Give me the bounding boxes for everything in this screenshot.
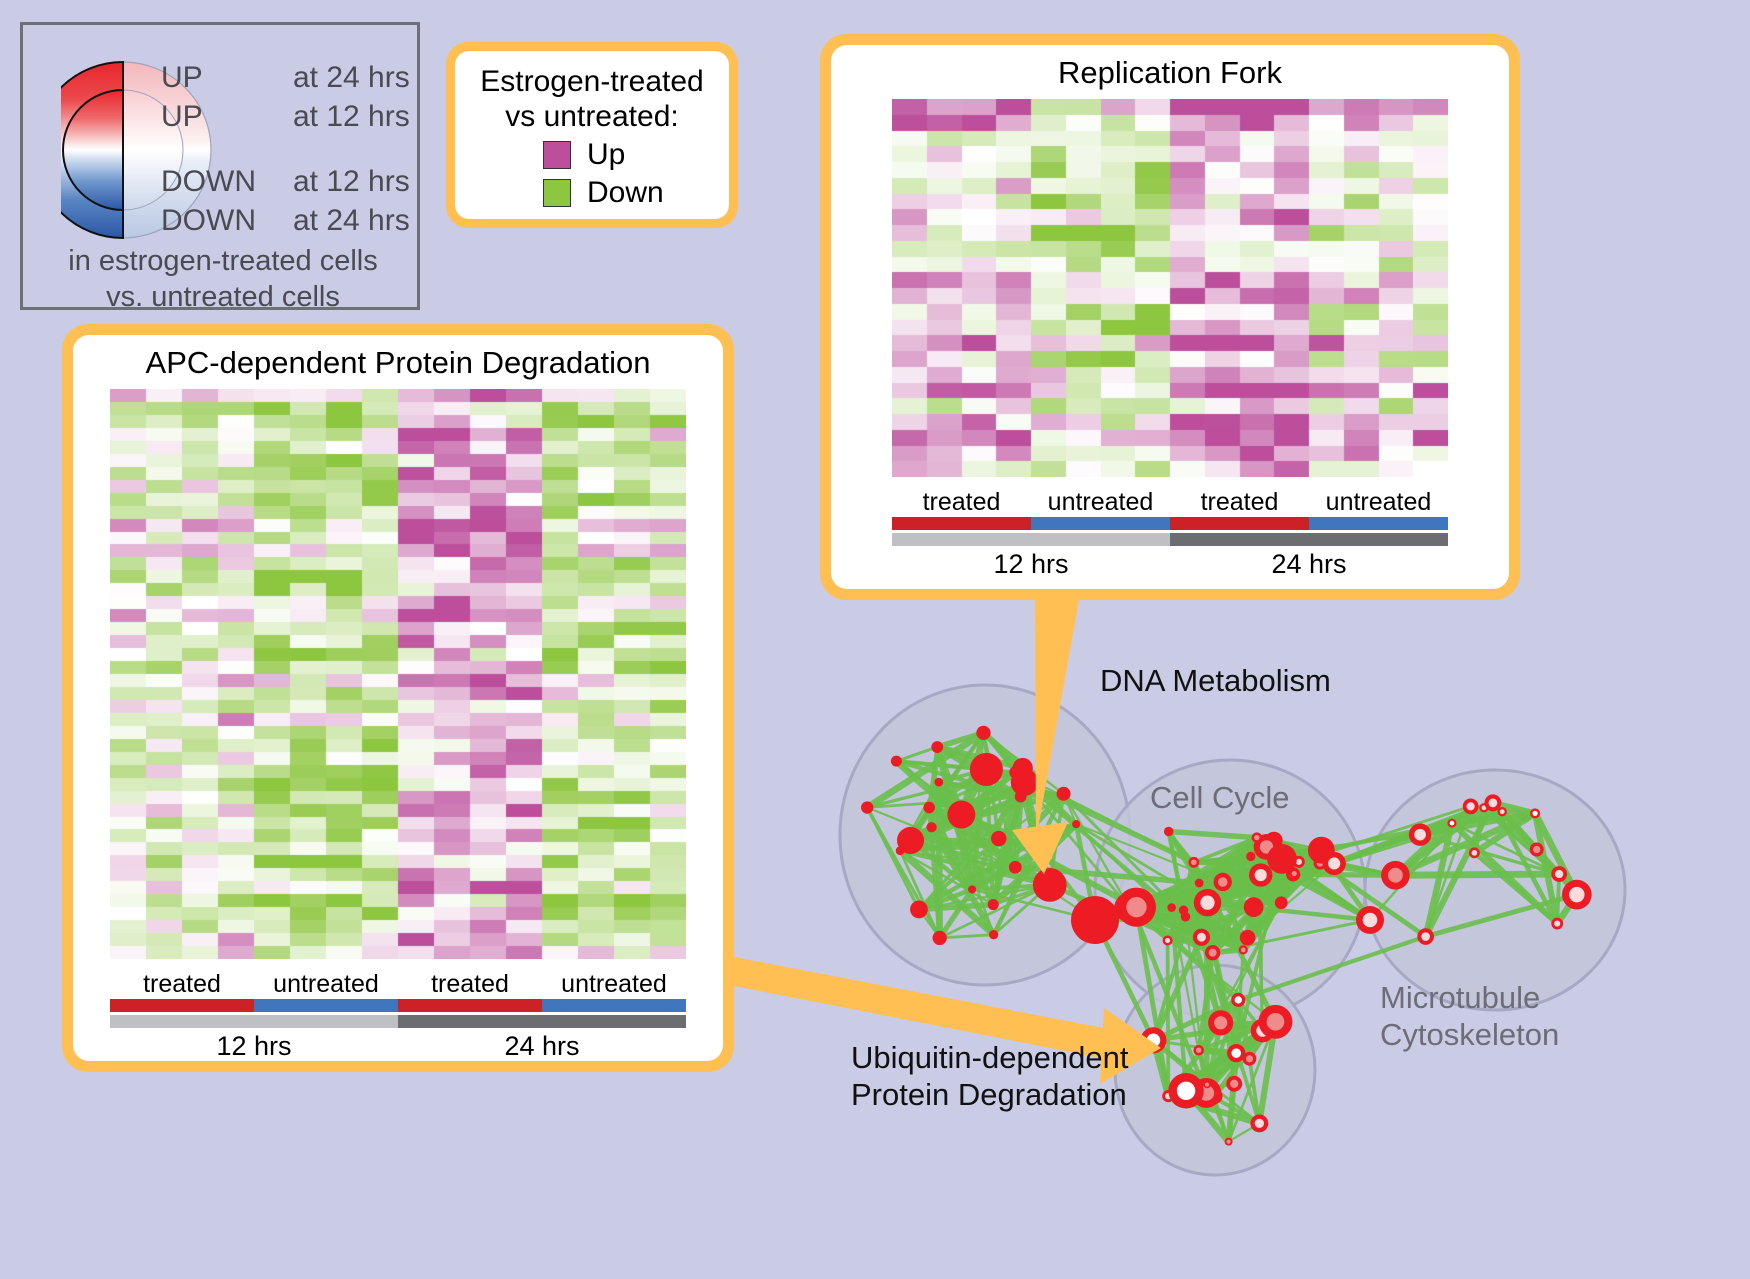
network-node-core — [1363, 913, 1378, 928]
network-node — [861, 801, 873, 813]
estrogen-legend-title-line1: Estrogen-treated — [465, 65, 719, 100]
group-bar-treated-12 — [892, 517, 1031, 530]
network-node-core — [1450, 821, 1455, 826]
group-bar-apc-untreated-12 — [254, 999, 398, 1012]
cluster-label-dna-metabolism: DNA Metabolism — [1100, 663, 1331, 700]
legend-time-down-12: at 12 hrs — [293, 165, 410, 198]
network-node-core — [1554, 920, 1560, 926]
heatmap-canvas-apc — [110, 389, 686, 959]
group-bars-apc — [110, 999, 686, 1012]
network-node — [1244, 897, 1264, 917]
legend-key-up-12: UP — [161, 100, 293, 134]
network-node-core — [1241, 948, 1246, 953]
network-node — [1240, 930, 1256, 946]
network-node-core — [1231, 1048, 1241, 1058]
heatmap-canvas-replication-fork — [892, 99, 1448, 477]
swatch-up-icon — [543, 141, 571, 169]
estrogen-legend-title-line2: vs untreated: — [465, 100, 719, 135]
network-node — [1011, 769, 1038, 796]
network-node — [910, 901, 928, 919]
network-node — [1246, 852, 1255, 861]
group-bars-replication-fork — [892, 517, 1448, 530]
network-node — [1167, 903, 1176, 912]
time-bars-apc — [110, 1015, 686, 1028]
group-bar-apc-untreated-24 — [542, 999, 686, 1012]
network-node — [891, 756, 902, 767]
network-node — [1195, 879, 1204, 888]
network-node-core — [1218, 877, 1228, 887]
network-node — [988, 899, 999, 910]
network-node — [1181, 912, 1191, 922]
network-node — [926, 822, 936, 832]
network-node — [1164, 827, 1174, 837]
panel-replication-fork: Replication Fork treated untreated treat… — [820, 34, 1520, 600]
legend-panel: UPat 24 hrs UPat 12 hrs DOWNat 12 hrs DO… — [20, 22, 420, 310]
time-label-apc-12hrs: 12 hrs — [110, 1028, 398, 1062]
cluster-label-ubiquitin-protein-degradation: Ubiquitin-dependent Protein Degradation — [851, 1040, 1129, 1113]
group-bar-apc-treated-24 — [398, 999, 542, 1012]
time-bars-replication-fork — [892, 533, 1448, 546]
legend-row-down-12: DOWNat 12 hrs — [161, 165, 410, 199]
legend-time-up-12: at 12 hrs — [293, 100, 410, 133]
network-node — [1025, 833, 1043, 851]
network-node — [947, 801, 975, 829]
network-node-core — [1414, 829, 1426, 841]
network-node-core — [1388, 868, 1403, 883]
network-node-core — [1205, 1083, 1209, 1087]
legend-time-up-24: at 24 hrs — [293, 61, 410, 94]
network-node-core — [1177, 1082, 1195, 1100]
legend-footer: in estrogen-treated cells vs. untreated … — [23, 243, 423, 316]
network-node — [931, 741, 943, 753]
network-node-core — [1191, 859, 1197, 865]
group-label-untreated-12: untreated — [1031, 488, 1170, 517]
network-node-core — [1209, 949, 1217, 957]
network-node-core — [1292, 871, 1297, 876]
network-node — [1015, 791, 1027, 803]
network-node-core — [1126, 897, 1146, 917]
network-node-core — [1230, 1080, 1238, 1088]
estrogen-legend-card: Estrogen-treated vs untreated: Up Down — [446, 42, 738, 228]
network-node — [1033, 868, 1067, 902]
network-node-core — [1533, 811, 1538, 816]
network-node-core — [1227, 1140, 1231, 1144]
network-node — [1009, 861, 1022, 874]
group-bar-apc-treated-12 — [110, 999, 254, 1012]
cluster-label-microtubule-line1: Microtubule — [1380, 980, 1559, 1017]
network-node-core — [1255, 869, 1267, 881]
estrogen-legend-item-down: Down — [543, 176, 719, 210]
network-node — [1072, 820, 1080, 828]
network-node — [923, 802, 935, 814]
network-node-core — [1472, 850, 1478, 856]
legend-key-up-24: UP — [161, 61, 293, 95]
legend-row-down-24: DOWNat 24 hrs — [161, 204, 410, 238]
cluster-label-ubiquitin-line2: Protein Degradation — [851, 1077, 1129, 1114]
estrogen-legend-down-label: Down — [587, 176, 664, 210]
legend-key-down-24: DOWN — [161, 204, 293, 238]
time-labels-apc: 12 hrs 24 hrs — [110, 1028, 686, 1062]
network-node-core — [1533, 846, 1540, 853]
panel-title-apc: APC-dependent Protein Degradation — [146, 345, 651, 381]
network-edge — [1168, 940, 1169, 1096]
network-node — [1267, 844, 1297, 874]
time-bar-apc-24hrs — [398, 1015, 686, 1028]
legend-key-down-12: DOWN — [161, 165, 293, 199]
estrogen-legend-up-label: Up — [587, 138, 625, 172]
network-node-core — [1267, 1013, 1285, 1031]
time-bar-apc-12hrs — [110, 1015, 398, 1028]
group-bar-untreated-12 — [1031, 517, 1170, 530]
network-node — [1071, 896, 1119, 944]
group-label-apc-treated-12: treated — [110, 970, 254, 999]
legend-time-down-24: at 24 hrs — [293, 204, 410, 237]
network-node-core — [1197, 933, 1206, 942]
network-node-core — [1254, 835, 1259, 840]
network-node-core — [1421, 932, 1430, 941]
legend-row-up-12: UPat 12 hrs — [161, 100, 410, 134]
network-node-core — [1165, 938, 1170, 943]
cluster-label-microtubule-line2: Cytoskeleton — [1380, 1017, 1559, 1054]
network-node-core — [1246, 1055, 1253, 1062]
time-label-apc-24hrs: 24 hrs — [398, 1028, 686, 1062]
network-node — [934, 778, 943, 787]
estrogen-legend-item-up: Up — [543, 138, 719, 172]
network-node — [976, 726, 990, 740]
network-node-core — [1555, 870, 1563, 878]
network-node-core — [1467, 802, 1475, 810]
network-node — [970, 753, 1003, 786]
legend-footer-line1: in estrogen-treated cells — [23, 243, 423, 279]
network-node — [991, 831, 1007, 847]
time-bar-24hrs — [1170, 533, 1448, 546]
network-node-core — [1328, 857, 1340, 869]
network-node — [897, 827, 924, 854]
network-node — [1275, 896, 1288, 909]
heatmap-replication-fork: treated untreated treated untreated 12 h… — [892, 99, 1448, 580]
network-node-core — [1500, 809, 1505, 814]
group-label-apc-untreated-12: untreated — [254, 970, 398, 999]
network-node — [933, 931, 947, 945]
network-node-core — [1214, 1016, 1227, 1029]
estrogen-legend-title: Estrogen-treated vs untreated: — [465, 65, 719, 134]
network-node — [968, 885, 976, 893]
group-label-apc-treated-24: treated — [398, 970, 542, 999]
group-label-apc-untreated-24: untreated — [542, 970, 686, 999]
group-labels-apc: treated untreated treated untreated — [110, 970, 686, 999]
group-bar-untreated-24 — [1309, 517, 1448, 530]
network-node-core — [1235, 996, 1242, 1003]
time-labels-replication-fork: 12 hrs 24 hrs — [892, 546, 1448, 580]
swatch-down-icon — [543, 179, 571, 207]
group-bar-treated-24 — [1170, 517, 1309, 530]
network-node-core — [1147, 1034, 1161, 1048]
time-bar-12hrs — [892, 533, 1170, 546]
network-node — [1057, 787, 1071, 801]
network-node-core — [1569, 887, 1584, 902]
time-label-24hrs: 24 hrs — [1170, 546, 1448, 580]
network-node-core — [1255, 1119, 1264, 1128]
network-node-core — [1200, 896, 1214, 910]
cluster-label-microtubule-cytoskeleton: Microtubule Cytoskeleton — [1380, 980, 1559, 1053]
group-label-treated-12: treated — [892, 488, 1031, 517]
group-labels-replication-fork: treated untreated treated untreated — [892, 488, 1448, 517]
time-label-12hrs: 12 hrs — [892, 546, 1170, 580]
network-node — [989, 930, 998, 939]
legend-footer-line2: vs. untreated cells — [23, 279, 423, 315]
network-edge — [1395, 874, 1559, 875]
panel-title-replication-fork: Replication Fork — [1058, 55, 1282, 91]
network-node-core — [1489, 798, 1498, 807]
cluster-label-cell-cycle: Cell Cycle — [1150, 780, 1290, 817]
group-label-treated-24: treated — [1170, 488, 1309, 517]
heatmap-apc: treated untreated treated untreated 12 h… — [110, 389, 686, 1062]
group-label-untreated-24: untreated — [1309, 488, 1448, 517]
legend-row-up-24: UPat 24 hrs — [161, 61, 410, 95]
panel-apc-dependent-protein-degradation: APC-dependent Protein Degradation treate… — [62, 324, 734, 1072]
cluster-label-ubiquitin-line1: Ubiquitin-dependent — [851, 1040, 1129, 1077]
network-node-core — [1196, 1047, 1201, 1052]
